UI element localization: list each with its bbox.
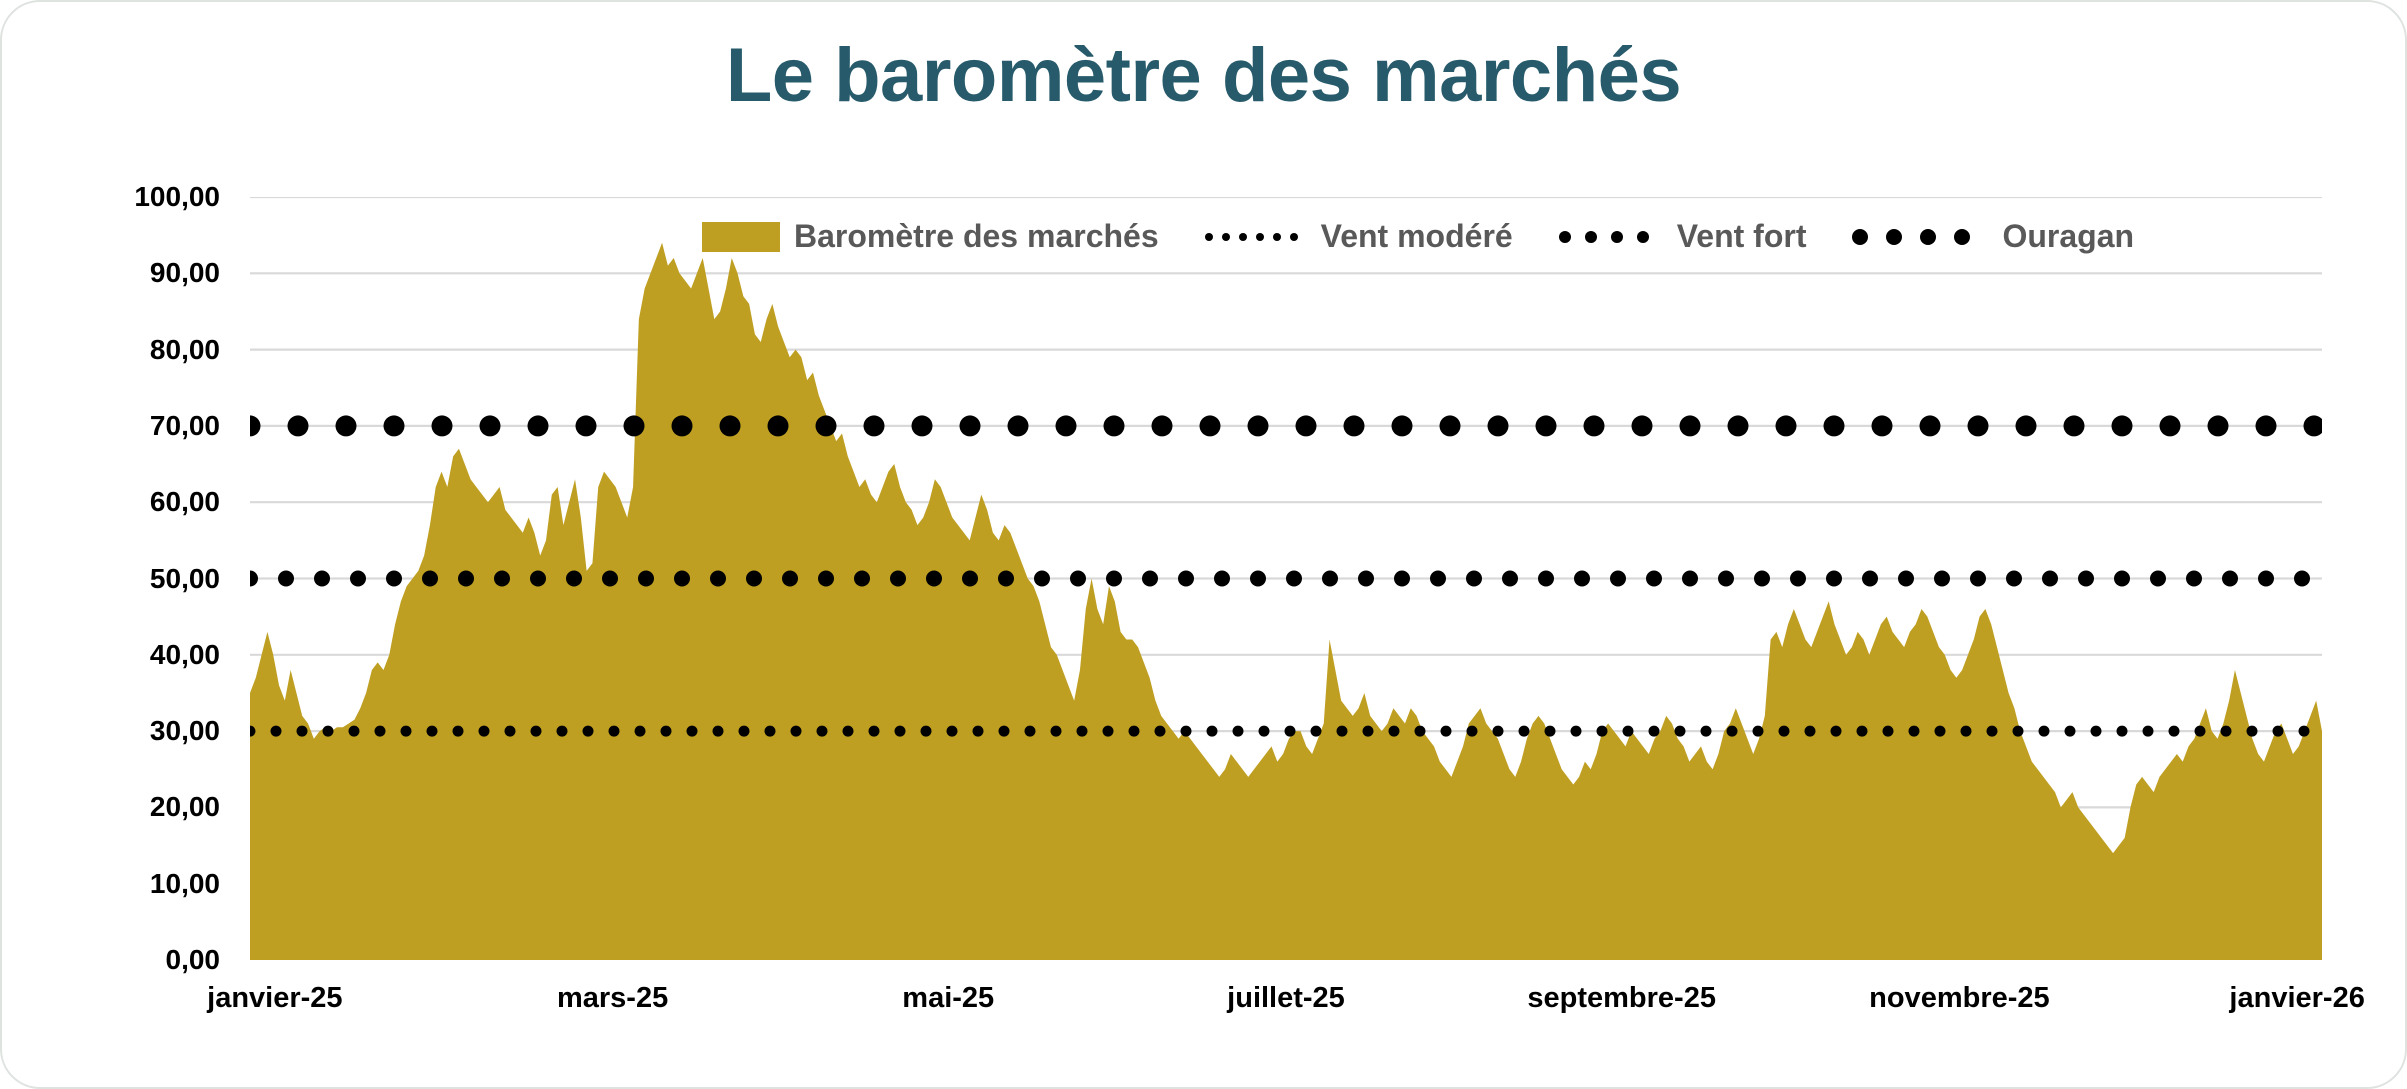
page-title: Le baromètre des marchés: [2, 36, 2405, 116]
y-axis-tick-label: 40,00: [150, 639, 220, 671]
y-axis-tick-label: 60,00: [150, 486, 220, 518]
area-swatch-icon: [702, 222, 780, 252]
legend-item-label: Vent modéré: [1321, 218, 1513, 255]
y-axis-tick-label: 100,00: [134, 181, 220, 213]
dotted-line-small-icon: [1205, 233, 1307, 241]
x-axis-tick-label: mai-25: [902, 982, 994, 1015]
area-chart-svg: [250, 197, 2322, 960]
y-axis-tick-label: 70,00: [150, 410, 220, 442]
x-axis-tick-label: novembre-25: [1869, 982, 2050, 1015]
legend-item-vent-fort[interactable]: Vent fort: [1559, 218, 1807, 255]
x-axis-tick-label: septembre-25: [1527, 982, 1716, 1015]
y-axis-tick-label: 0,00: [166, 944, 221, 976]
legend-item-vent-modere[interactable]: Vent modéré: [1205, 218, 1513, 255]
y-axis-tick-label: 80,00: [150, 334, 220, 366]
legend-item-label: Vent fort: [1677, 218, 1807, 255]
legend-item-label: Ouragan: [2002, 218, 2134, 255]
x-axis-tick-label: janvier-26: [2229, 982, 2364, 1015]
chart-legend: Baromètre des marchés Vent modéré Vent f…: [702, 218, 2134, 255]
x-axis-tick-label: mars-25: [557, 982, 668, 1015]
y-axis-tick-label: 10,00: [150, 868, 220, 900]
dotted-line-medium-icon: [1559, 231, 1663, 243]
x-axis: janvier-25mars-25mai-25juillet-25septemb…: [2, 982, 2407, 1042]
y-axis: 0,0010,0020,0030,0040,0050,0060,0070,008…: [2, 2, 234, 1089]
x-axis-tick-label: janvier-25: [207, 982, 342, 1015]
plot-area: [250, 197, 2322, 960]
chart-card: Le baromètre des marchés 0,0010,0020,003…: [0, 0, 2407, 1089]
y-axis-tick-label: 30,00: [150, 715, 220, 747]
legend-item-barometre[interactable]: Baromètre des marchés: [702, 218, 1159, 255]
x-axis-tick-label: juillet-25: [1227, 982, 1345, 1015]
y-axis-tick-label: 20,00: [150, 791, 220, 823]
y-axis-tick-label: 90,00: [150, 257, 220, 289]
legend-item-ouragan[interactable]: Ouragan: [1852, 218, 2134, 255]
y-axis-tick-label: 50,00: [150, 563, 220, 595]
legend-item-label: Baromètre des marchés: [794, 218, 1159, 255]
dotted-line-large-icon: [1852, 229, 1988, 245]
